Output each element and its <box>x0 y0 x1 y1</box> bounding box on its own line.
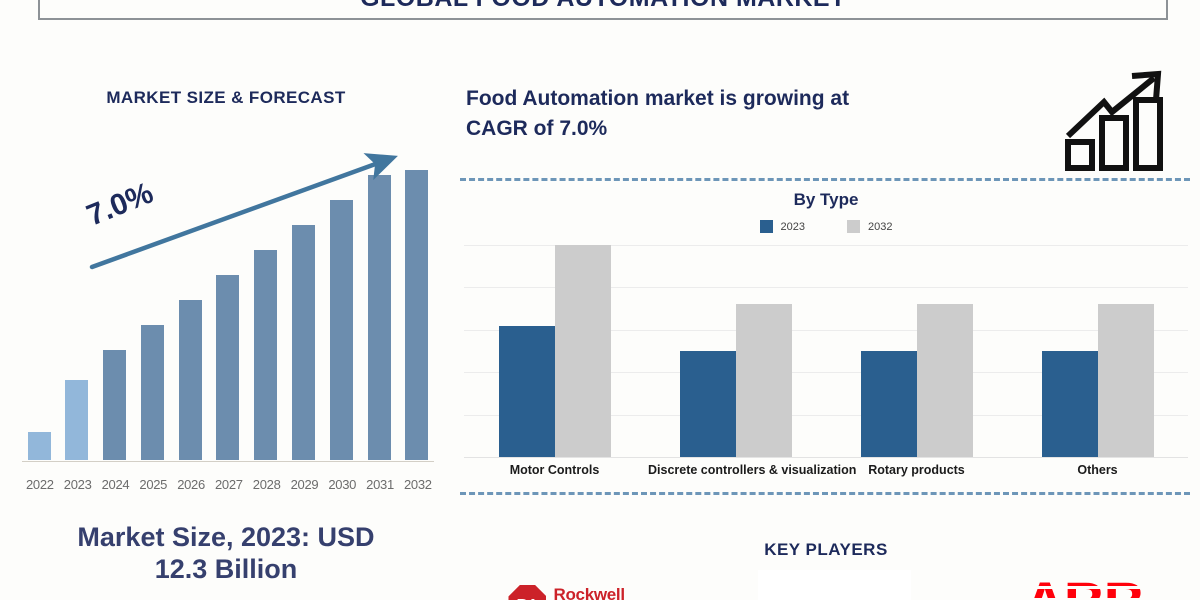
bytype-category-labels: Motor Controls Discrete controllers & vi… <box>464 463 1188 477</box>
x-tick-label: 2022 <box>26 477 52 492</box>
section-divider-top <box>460 178 1190 181</box>
bar-column <box>177 160 203 460</box>
forecast-bar <box>216 275 239 460</box>
forecast-bar <box>28 432 51 460</box>
page-title: GLOBAL FOOD AUTOMATION MARKET <box>360 0 846 13</box>
headline-line-2: CAGR of 7.0% <box>466 114 1062 144</box>
x-axis-line <box>22 461 434 462</box>
category-label: Discrete controllers & visualization <box>648 463 823 477</box>
forecast-bar <box>292 225 315 460</box>
key-players-title: KEY PLAYERS <box>452 540 1200 560</box>
bar-2023 <box>1042 351 1098 457</box>
bar-group <box>1018 245 1178 457</box>
rockwell-wordmark: Rockwell Automation <box>553 586 644 600</box>
infographic-page: GLOBAL FOOD AUTOMATION MARKET MARKET SIZ… <box>0 0 1200 600</box>
category-label: Rotary products <box>829 463 1004 477</box>
caption-line-1: Market Size, 2023: USD <box>0 522 452 554</box>
key-players-logos: RA Rockwell Automation SIEMENS ABB <box>452 568 1200 600</box>
bytype-x-axis <box>464 457 1188 458</box>
forecast-bar <box>141 325 164 460</box>
forecast-year-labels: 2022 2023 2024 2025 2026 2027 2028 2029 … <box>26 477 430 492</box>
legend-item: 2032 <box>847 220 892 233</box>
section-divider-bottom <box>460 492 1190 495</box>
bar-2032 <box>917 304 973 457</box>
logo-abb: ABB <box>1024 568 1144 600</box>
logo-rockwell-automation: RA Rockwell Automation <box>508 568 644 600</box>
bar-column <box>26 160 52 460</box>
x-tick-label: 2031 <box>366 477 392 492</box>
siemens-wordmark: SIEMENS <box>758 570 911 600</box>
forecast-bar <box>254 250 277 460</box>
market-size-forecast-panel: MARKET SIZE & FORECAST 2022 2023 2024 <box>0 40 452 600</box>
bar-column <box>291 160 317 460</box>
legend-label: 2023 <box>781 221 805 233</box>
bar-column <box>215 160 241 460</box>
forecast-bar <box>65 380 88 460</box>
legend-swatch-2023 <box>760 220 773 233</box>
x-tick-label: 2032 <box>404 477 430 492</box>
bar-2032 <box>555 245 611 457</box>
forecast-bar <box>405 170 428 460</box>
bar-group <box>475 245 635 457</box>
x-tick-label: 2025 <box>139 477 165 492</box>
category-label: Others <box>1010 463 1185 477</box>
x-tick-label: 2029 <box>291 477 317 492</box>
rockwell-wordmark-line-1: Rockwell <box>553 586 644 600</box>
x-tick-label: 2023 <box>64 477 90 492</box>
bar-2032 <box>1098 304 1154 457</box>
bar-2032 <box>736 304 792 457</box>
bar-2023 <box>680 351 736 457</box>
market-size-caption: Market Size, 2023: USD 12.3 Billion <box>0 522 452 586</box>
x-tick-label: 2028 <box>253 477 279 492</box>
cagr-headline-block: Food Automation market is growing at CAG… <box>460 70 1200 180</box>
bytype-bar-groups <box>464 245 1188 457</box>
bytype-legend: 2023 2032 <box>452 220 1200 233</box>
x-tick-label: 2024 <box>102 477 128 492</box>
market-size-forecast-chart: 2022 2023 2024 2025 2026 2027 2028 2029 … <box>16 150 436 500</box>
logo-siemens: SIEMENS <box>758 568 911 600</box>
x-tick-label: 2030 <box>328 477 354 492</box>
abb-wordmark-text: ABB <box>1024 571 1144 600</box>
growth-bar-chart-icon <box>1062 70 1170 172</box>
caption-line-2: 12.3 Billion <box>0 554 452 586</box>
bar-group <box>656 245 816 457</box>
bar-column <box>404 160 430 460</box>
bytype-chart: Motor Controls Discrete controllers & vi… <box>464 245 1188 495</box>
rockwell-ra-mark-icon: RA <box>508 585 546 600</box>
bar-2023 <box>861 351 917 457</box>
left-panel-heading: MARKET SIZE & FORECAST <box>0 88 452 108</box>
bar-column <box>328 160 354 460</box>
details-panel: Food Automation market is growing at CAG… <box>452 40 1200 600</box>
cagr-headline: Food Automation market is growing at CAG… <box>460 70 1062 145</box>
headline-line-1: Food Automation market is growing at <box>466 84 1062 114</box>
bar-column <box>253 160 279 460</box>
bar-column <box>366 160 392 460</box>
legend-label: 2032 <box>868 221 892 233</box>
forecast-bar <box>368 175 391 460</box>
abb-wordmark: ABB <box>1024 577 1144 600</box>
legend-item: 2023 <box>760 220 805 233</box>
x-tick-label: 2027 <box>215 477 241 492</box>
category-label: Motor Controls <box>467 463 642 477</box>
bytype-title: By Type <box>452 190 1200 210</box>
forecast-bar <box>330 200 353 460</box>
forecast-bar <box>179 300 202 460</box>
legend-swatch-2032 <box>847 220 860 233</box>
bar-2023 <box>499 326 555 457</box>
forecast-bar <box>103 350 126 460</box>
bar-group <box>837 245 997 457</box>
x-tick-label: 2026 <box>177 477 203 492</box>
title-banner: GLOBAL FOOD AUTOMATION MARKET <box>38 0 1168 20</box>
